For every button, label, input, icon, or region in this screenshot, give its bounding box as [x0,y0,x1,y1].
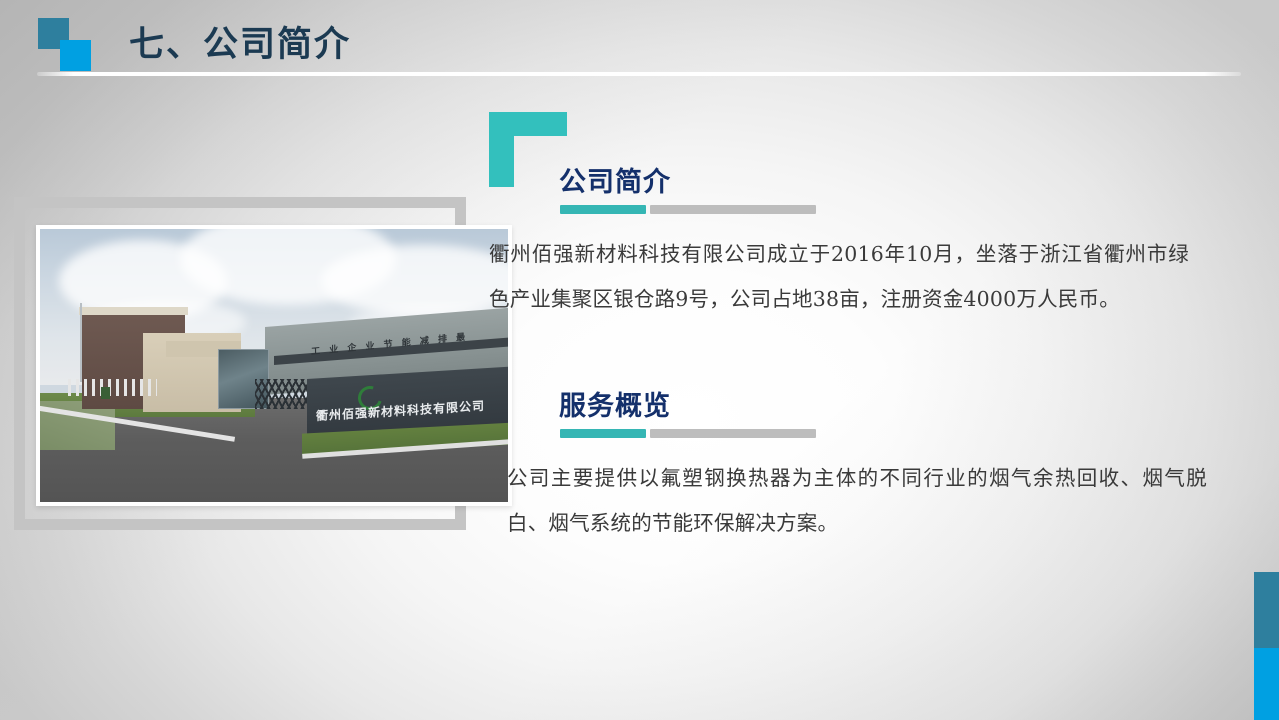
photo-trash-bin [101,387,110,399]
divider-gray-segment [650,429,816,438]
photo-office-roof [79,307,188,316]
divider-teal-segment [560,205,646,214]
accent-bar-top-segment [1254,572,1279,648]
section-body-text: 公司主要提供以氟塑钢换热器为主体的不同行业的烟气余热回收、烟气脱白、烟气系统的节… [507,456,1207,546]
section-heading: 服务概览 [559,384,1249,423]
header-square-bright-icon [60,40,91,71]
factory-photo: 工 业 企 业 节 能 减 排 最 衢州佰强新材料科技有限公司 [40,229,508,502]
section-service-overview: 服务概览 公司主要提供以氟塑钢换热器为主体的不同行业的烟气余热回收、烟气脱白、烟… [489,384,1249,546]
header-divider-rule [37,72,1241,76]
section-company-intro: 公司简介 衢州佰强新材料科技有限公司成立于2016年10月，坐落于浙江省衢州市绿… [489,160,1249,322]
slide-root: 七、公司简介 工 业 企 业 节 能 减 排 最 [0,0,1279,720]
section-heading: 公司简介 [559,160,1249,199]
section-divider [560,429,816,438]
accent-bar-bottom-segment [1254,648,1279,720]
photo-light-pole [80,303,82,382]
slide-header: 七、公司简介 [0,0,1279,92]
divider-teal-segment [560,429,646,438]
divider-gray-segment [650,205,816,214]
photo-card: 工 业 企 业 节 能 减 排 最 衢州佰强新材料科技有限公司 [36,225,512,506]
corner-accent-bar [1254,572,1279,720]
section-divider [560,205,816,214]
page-title: 七、公司简介 [129,16,351,67]
section-body-text: 衢州佰强新材料科技有限公司成立于2016年10月，坐落于浙江省衢州市绿色产业集聚… [489,232,1189,322]
